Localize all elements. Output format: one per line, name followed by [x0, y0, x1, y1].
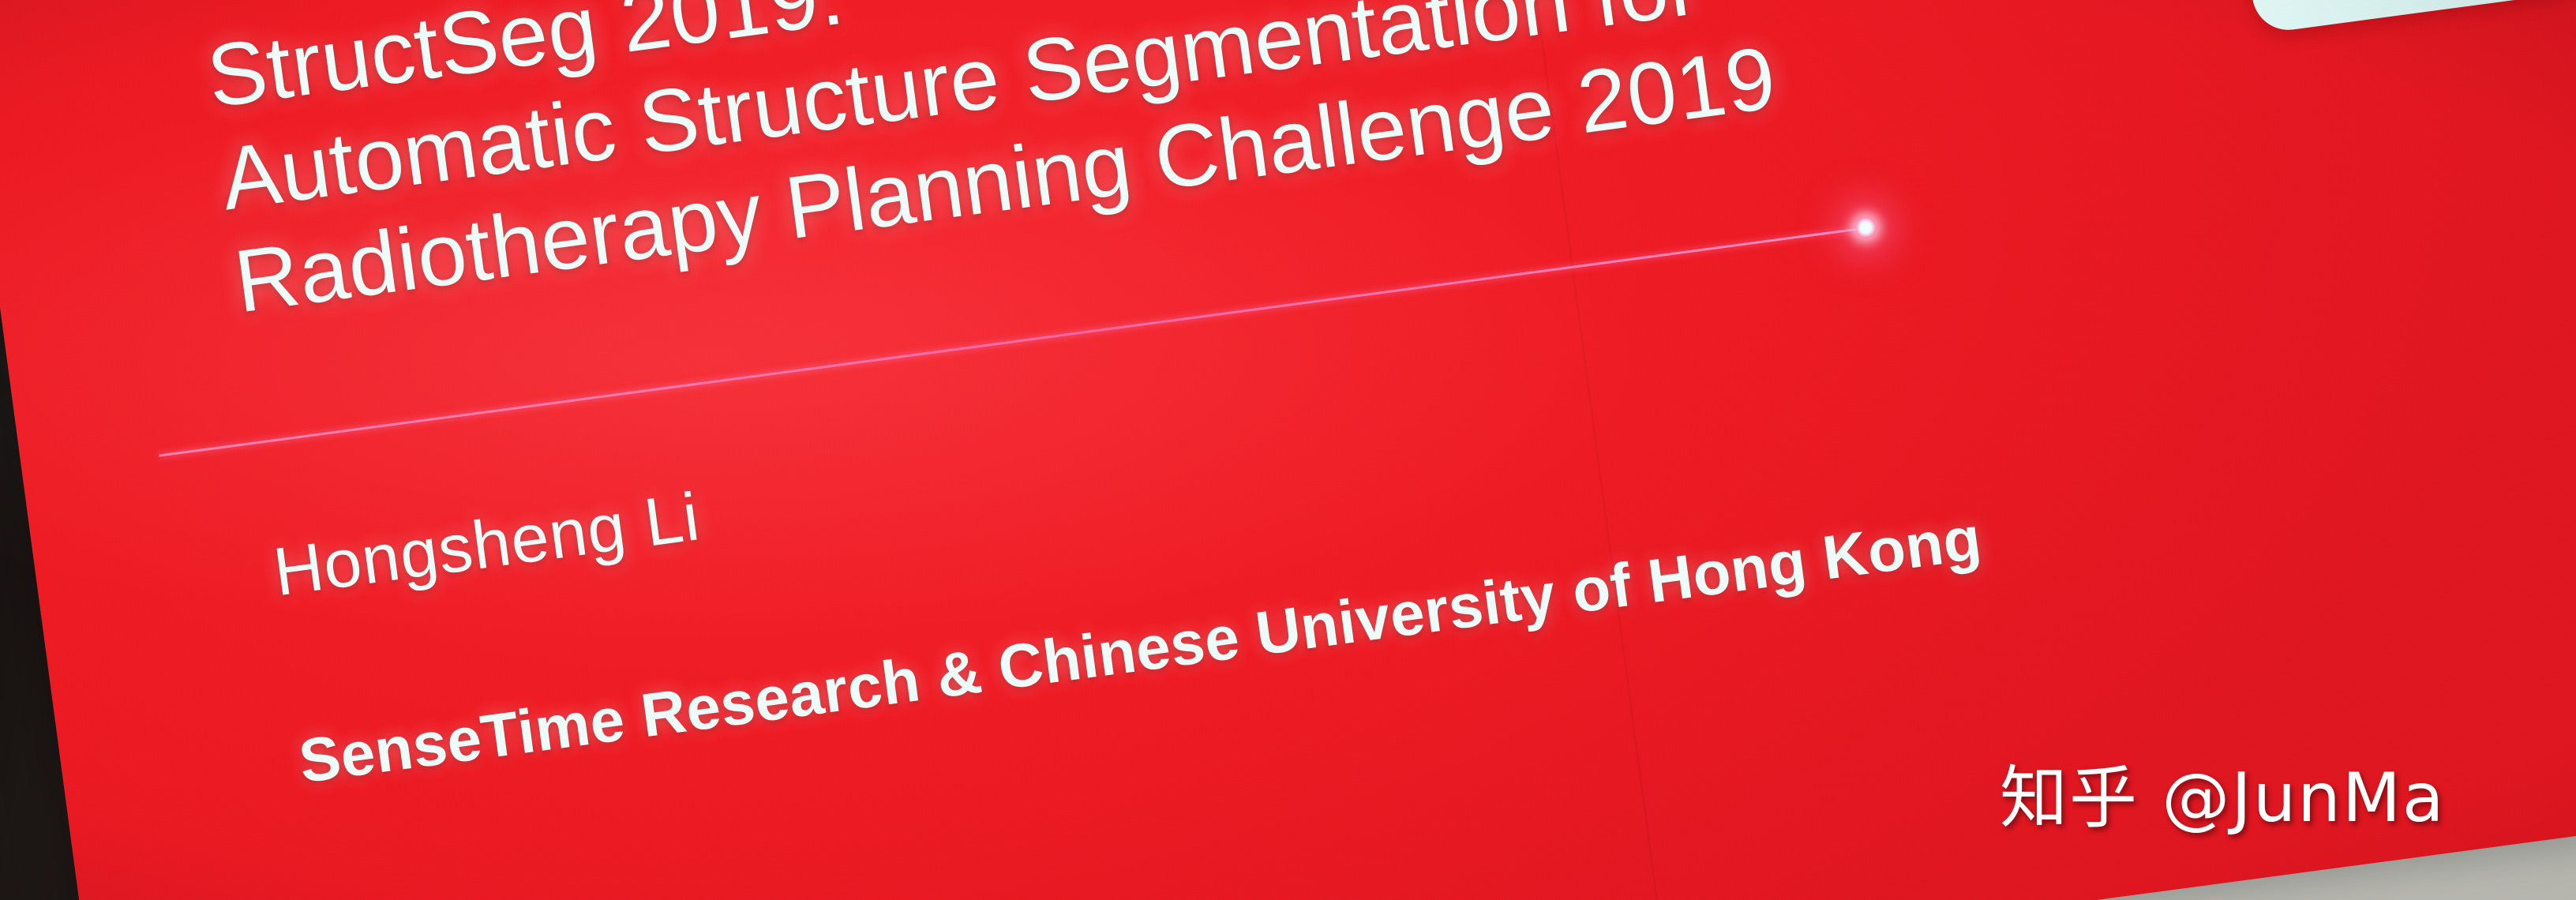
- infinity-swirl-icon: [2265, 0, 2391, 3]
- presenter-name: Hongsheng Li: [269, 478, 704, 612]
- divider-glow-dot: [1854, 216, 1877, 239]
- slide-photo: StructSeg 2019: Automatic Structure Segm…: [0, 0, 2576, 900]
- sensetime-logo-badge: 商汤 sensetime: [2240, 0, 2576, 34]
- zhihu-watermark: 知乎 @JunMa: [2000, 742, 2446, 841]
